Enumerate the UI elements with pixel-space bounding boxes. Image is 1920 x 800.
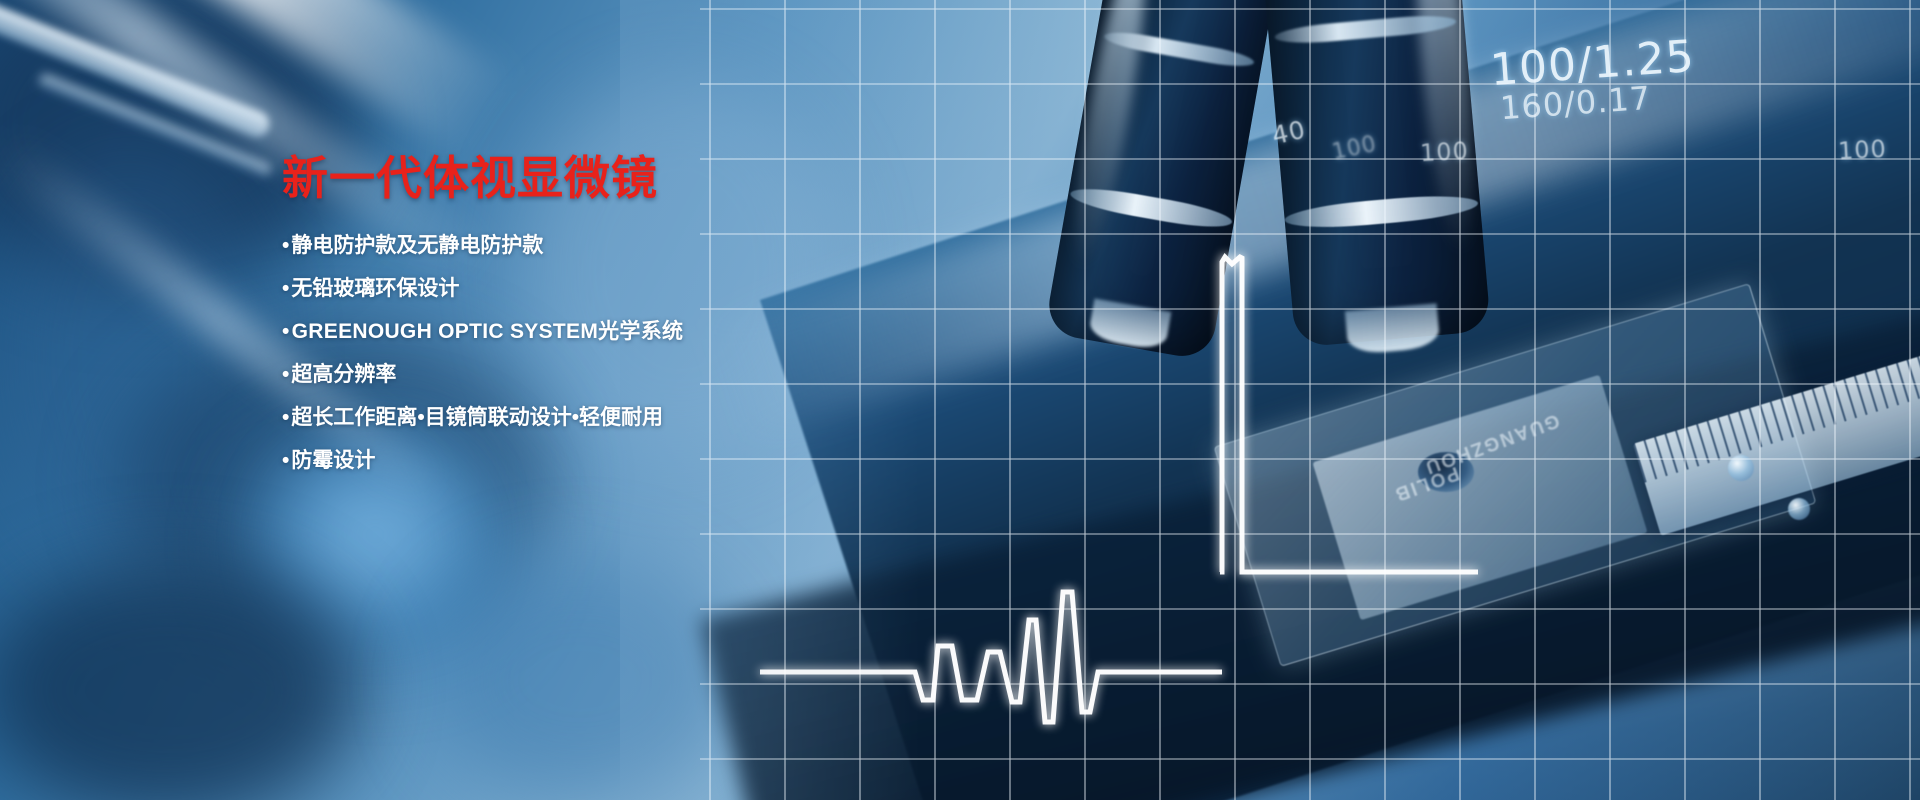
feature-bullet-5: 超长工作距离•目镜筒联动设计•轻便耐用	[282, 407, 802, 428]
objective-lens-group	[1060, 0, 1760, 440]
slide-specimen-spot	[1418, 452, 1474, 492]
feature-bullet-3: GREENOUGH OPTIC SYSTEM光学系统	[282, 321, 802, 342]
marketing-copy-block: 新一代体视显微镜 静电防护款及无静电防护款 无铅玻璃环保设计 GREENOUGH…	[282, 152, 802, 493]
feature-bullet-1: 静电防护款及无静电防护款	[282, 235, 802, 256]
feature-bullet-4: 超高分辨率	[282, 364, 802, 385]
stage-knob	[1788, 498, 1810, 520]
objective-lens-right	[1255, 0, 1491, 348]
feature-bullet-list: 静电防护款及无静电防护款 无铅玻璃环保设计 GREENOUGH OPTIC SY…	[282, 235, 802, 471]
page-title: 新一代体视显微镜	[282, 152, 802, 205]
objective-front-lens	[1088, 298, 1172, 351]
stage-knob	[1728, 455, 1754, 481]
feature-bullet-2: 无铅玻璃环保设计	[282, 278, 802, 299]
objective-lens-left	[1044, 0, 1284, 361]
hero-banner: GUANGZHOU POLIB 100/1.25 160/0.17 40 100…	[0, 0, 1920, 800]
objective-front-lens	[1345, 303, 1440, 355]
feature-bullet-6: 防霉设计	[282, 450, 802, 471]
